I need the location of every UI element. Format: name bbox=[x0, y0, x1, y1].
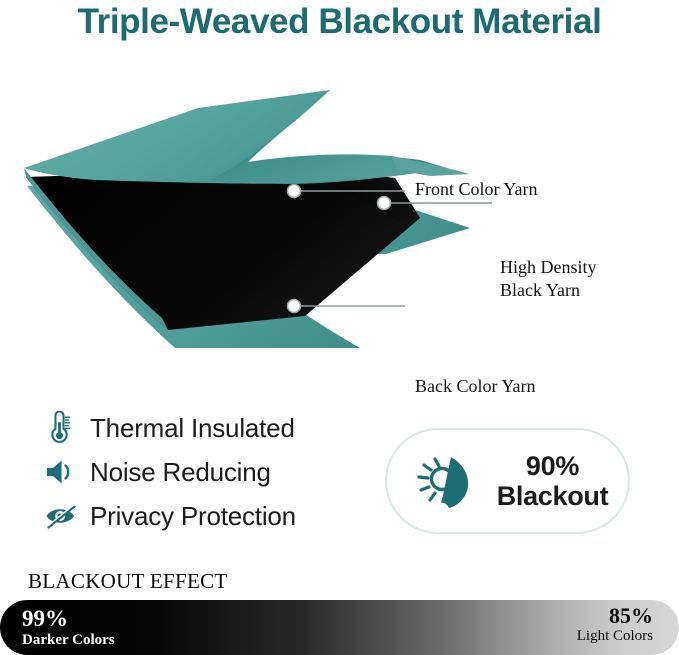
blackout-effect-heading: BLACKOUT EFFECT bbox=[28, 569, 228, 594]
marker-black bbox=[378, 197, 391, 210]
blackout-badge: 90% Blackout bbox=[385, 428, 630, 534]
blackout-effect-bar: 99% Darker Colors 85% Light Colors bbox=[0, 600, 679, 655]
fabric-layers-diagram: Front Color Yarn High Density Black Yarn… bbox=[0, 78, 679, 353]
bar-left-group: 99% Darker Colors bbox=[22, 607, 115, 649]
label-front-color-yarn: Front Color Yarn bbox=[415, 178, 538, 201]
feature-label: Thermal Insulated bbox=[90, 413, 295, 444]
label-back-color-yarn: Back Color Yarn bbox=[415, 375, 536, 398]
feature-thermal-insulated: Thermal Insulated bbox=[44, 406, 374, 450]
bar-right-label: Light Colors bbox=[577, 628, 653, 645]
bar-right-percent: 85% bbox=[577, 604, 653, 628]
thermometer-icon bbox=[44, 411, 90, 445]
label-high-density-black-yarn: High Density Black Yarn bbox=[500, 256, 660, 302]
feature-label: Noise Reducing bbox=[90, 457, 271, 488]
label-black-line2: Black Yarn bbox=[500, 279, 660, 302]
page-title: Triple-Weaved Blackout Material bbox=[0, 2, 679, 42]
eye-slash-icon bbox=[44, 502, 90, 530]
bar-right-group: 85% Light Colors bbox=[577, 604, 653, 645]
blackout-label: Blackout bbox=[497, 481, 609, 511]
blackout-badge-text: 90% Blackout bbox=[497, 451, 609, 511]
feature-label: Privacy Protection bbox=[90, 501, 296, 532]
bar-left-label: Darker Colors bbox=[22, 632, 115, 649]
sun-blocked-icon bbox=[411, 445, 483, 517]
marker-back bbox=[288, 300, 301, 313]
feature-noise-reducing: Noise Reducing bbox=[44, 450, 374, 494]
marker-front bbox=[288, 185, 301, 198]
feature-privacy-protection: Privacy Protection bbox=[44, 494, 374, 538]
bar-left-percent: 99% bbox=[22, 607, 115, 632]
speaker-icon bbox=[44, 457, 90, 487]
blackout-percent: 90% bbox=[497, 451, 609, 481]
label-black-line1: High Density bbox=[500, 256, 660, 279]
feature-list: Thermal Insulated Noise Reducing Privacy… bbox=[44, 406, 374, 538]
